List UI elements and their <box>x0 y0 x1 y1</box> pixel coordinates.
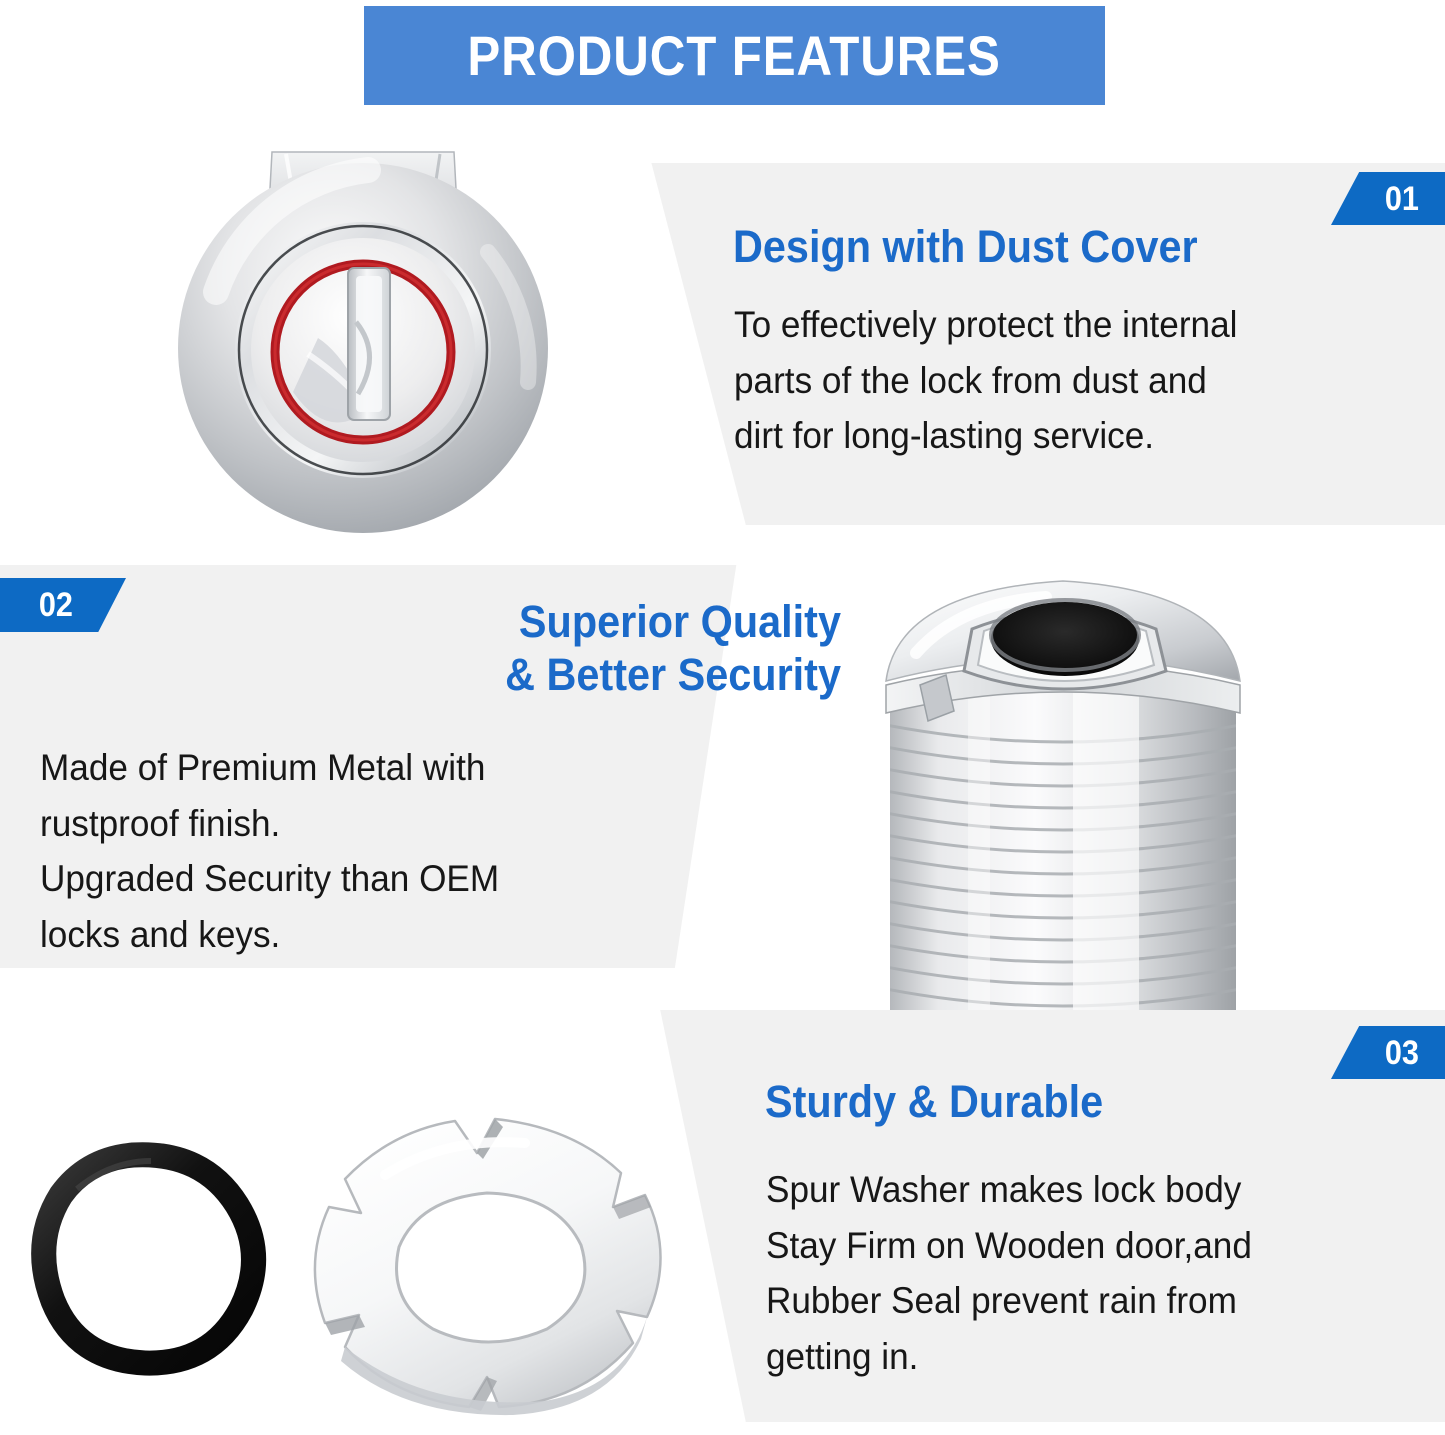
rubber-seal-shape <box>44 1155 254 1363</box>
feature-badge-number-01: 01 <box>1385 182 1419 216</box>
page-title: PRODUCT FEATURES <box>468 28 1001 84</box>
feature-heading-01: Design with Dust Cover <box>733 220 1322 273</box>
page-header-banner: PRODUCT FEATURES <box>364 6 1105 105</box>
spur-washer-and-rubber-seal-image <box>25 1115 685 1425</box>
feature-body-03: Spur Washer makes lock body Stay Firm on… <box>766 1162 1393 1384</box>
threaded-lock-barrel-image <box>868 565 1258 1020</box>
cam-lock-face-image <box>168 142 558 542</box>
spur-washer-shape <box>315 1119 661 1415</box>
feature-heading-03: Sturdy & Durable <box>765 1075 1354 1128</box>
feature-body-02: Made of Premium Metal with rustproof fin… <box>40 740 648 962</box>
feature-badge-number-03: 03 <box>1385 1036 1419 1070</box>
feature-badge-number-02: 02 <box>39 588 73 622</box>
feature-heading-02: Superior Quality & Better Security <box>326 595 841 701</box>
feature-body-01: To effectively protect the internal part… <box>734 297 1380 464</box>
